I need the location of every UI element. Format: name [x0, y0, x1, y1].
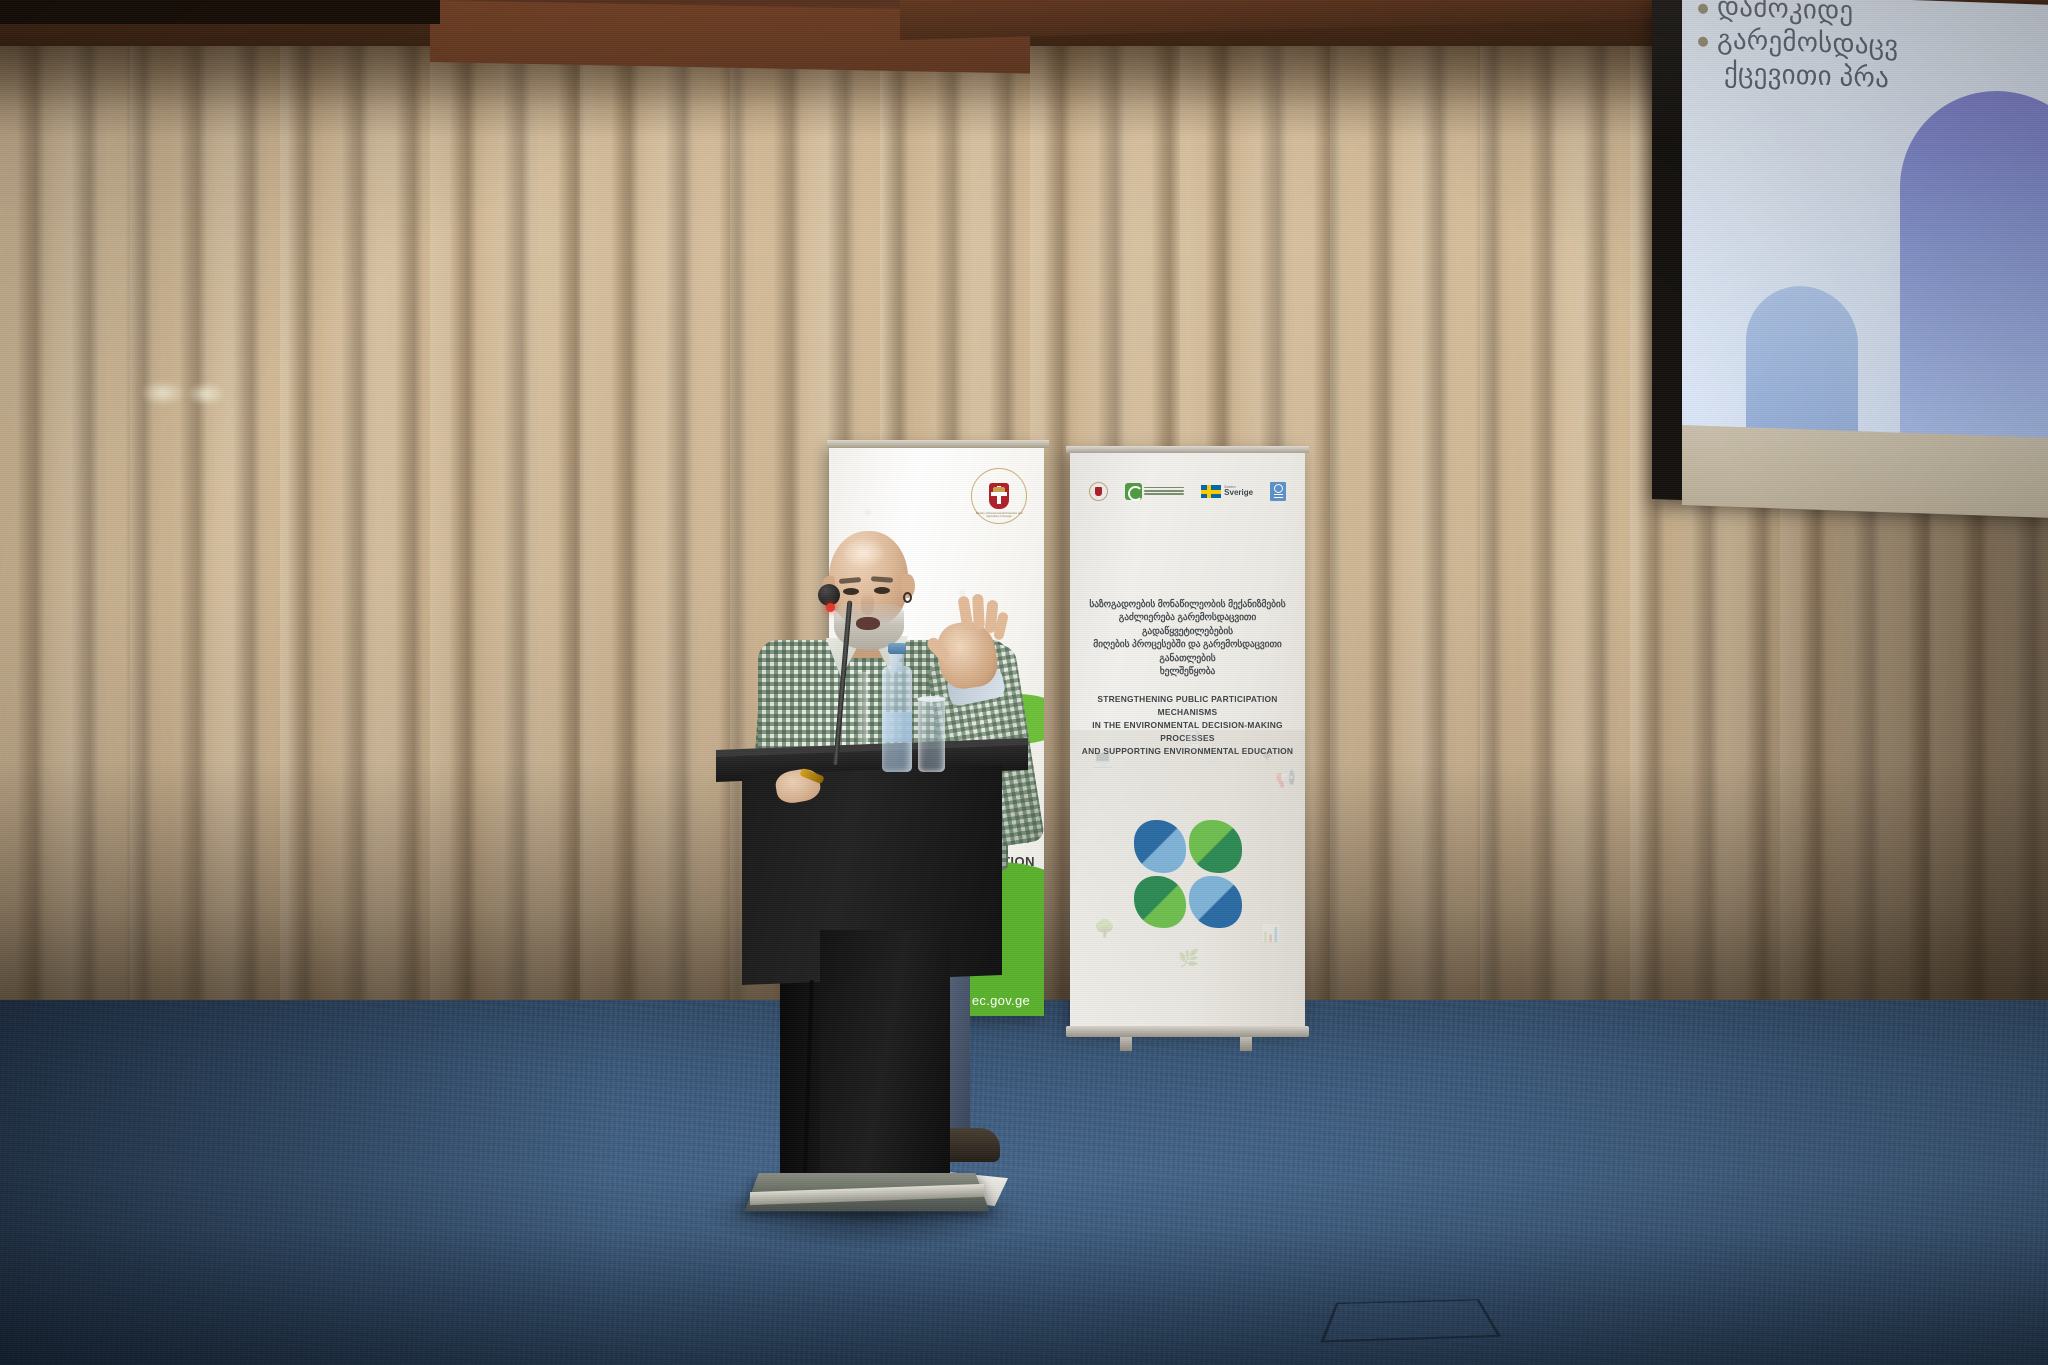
speaker-head-highlight [842, 538, 886, 568]
banner-right-title-en-line: STRENGTHENING PUBLIC PARTICIPATION MECHA… [1080, 693, 1295, 719]
curtain-glare-spot [186, 382, 226, 406]
swedish-flag-icon [1201, 485, 1221, 498]
georgia-coat-of-arms-icon [1089, 482, 1108, 501]
bullet-dot-icon [1698, 4, 1708, 14]
georgia-coat-of-arms-icon: Ministry of Environmental Protection and… [971, 468, 1027, 524]
project-logo-icon [1134, 820, 1242, 928]
globe-icon [1274, 484, 1283, 493]
floor-bottom-shadow [0, 1230, 2048, 1365]
conference-hall-photo: დამოკიდე გარემოსდაცვ ქცევითი პრა Ministr… [0, 0, 2048, 1365]
banner-right-title-ka-line: ხელშეწყობა [1078, 665, 1297, 678]
banner-right-base [1066, 1026, 1309, 1037]
speaker-mouth [856, 617, 880, 630]
projection-screen-surface: დამოკიდე გარემოსდაცვ ქცევითი პრა [1682, 0, 2048, 445]
undp-logo-icon [1270, 482, 1286, 501]
ceiling-shadow-strip [0, 0, 440, 24]
sweden-wordmark: Sweden Sverige [1224, 486, 1253, 497]
banner-right-title-ka: საზოგადოების მონაწილეობის მექანიზმების გ… [1078, 598, 1297, 679]
sweden-label: Sverige [1224, 489, 1253, 497]
slide-bullet-list: დამოკიდე გარემოსდაცვ ქცევითი პრა [1698, 0, 2048, 104]
banner-right-top-rail [1066, 446, 1309, 453]
floor-access-hatch [1320, 1299, 1501, 1342]
bullet-dot-icon [1698, 36, 1708, 46]
logo-petal-blue-2 [1189, 876, 1242, 929]
tree-icon: 🌳 [1094, 920, 1115, 937]
drinking-glass [918, 698, 945, 772]
curtain-glare-spot [140, 380, 186, 406]
water-bottle-neck [890, 652, 904, 672]
slide-bullet-text: დამოკიდე [1717, 0, 1853, 27]
podium-column [820, 930, 950, 1190]
laptop-icon: 💻 [1092, 750, 1113, 767]
drinking-glass-rim [917, 696, 946, 702]
banner-right-title-ka-line: საზოგადოების მონაწილეობის მექანიზმების [1078, 598, 1297, 611]
earring-icon [903, 592, 912, 603]
banner-right-title-ka-line: გაძლიერება გარემოსდაცვითი გადაწყვეტილებე… [1078, 611, 1297, 638]
mepa-logo-icon [1125, 483, 1184, 500]
banner-right-title-ka-line: მიღების პროცესებში და გარემოსდაცვითი გან… [1078, 638, 1297, 665]
mepa-wordmark [1144, 487, 1184, 497]
sweden-logo-icon: Sweden Sverige [1201, 485, 1253, 498]
banner-right-project: Sweden Sverige საზოგადოების მონაწილეობის… [1070, 450, 1305, 1030]
slide-bullet-text: გარემოსდაცვ [1717, 24, 1898, 61]
plant-icon: 🌿 [1178, 950, 1199, 967]
speaker-eye-left [843, 588, 859, 595]
microphone-led-indicator [826, 603, 835, 612]
logo-petal-green-2 [1134, 876, 1187, 929]
banner-left-url: ec.gov.ge [972, 993, 1030, 1008]
slide-arch-shape-small [1746, 284, 1858, 445]
undp-bars-icon [1274, 494, 1283, 499]
emblem-caption: Ministry of Environmental Protection and… [972, 512, 1026, 518]
crown-icon [993, 487, 1005, 493]
presentation-icon: 📊 [1260, 925, 1281, 942]
logo-petal-blue [1134, 820, 1187, 873]
leaf-mark-icon [1125, 483, 1142, 500]
document-icon: 📄 [1182, 732, 1203, 749]
speaker-eye-right [874, 587, 890, 594]
water-bottle-cap [888, 643, 906, 654]
shield-icon [989, 483, 1009, 509]
water-bottle-label [882, 712, 912, 742]
banner-right-logo-row: Sweden Sverige [1070, 482, 1305, 501]
projection-screen-lower-panel [1682, 425, 2048, 518]
shield-icon [1095, 487, 1102, 496]
banner-left-top-rail [827, 440, 1049, 448]
speaker-finger [972, 594, 985, 631]
megaphone-icon: 📢 [1275, 770, 1296, 787]
slide-bullet-text: ქცევითი პრა [1724, 57, 1889, 94]
sparkle-icon: ✦ [1260, 748, 1274, 765]
slide-arch-shape-large [1900, 88, 2048, 446]
logo-petal-green [1189, 820, 1242, 873]
